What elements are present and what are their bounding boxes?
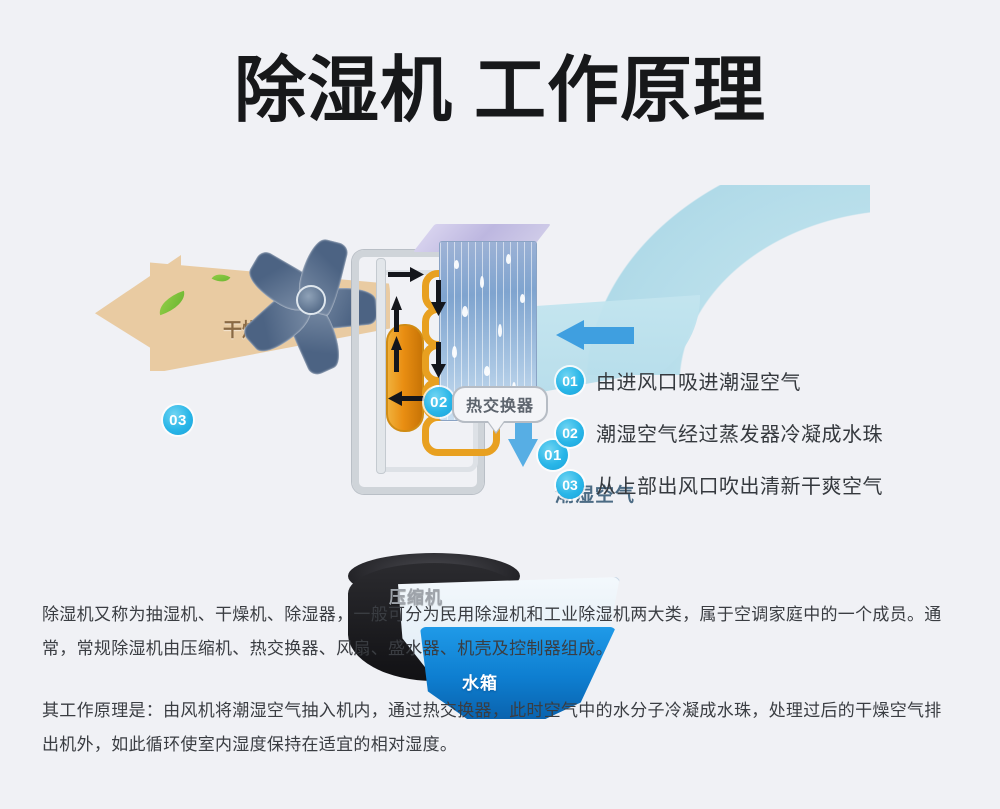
step-text: 潮湿空气经过蒸发器冷凝成水珠 bbox=[596, 418, 883, 447]
step-text: 从上部出风口吹出清新干爽空气 bbox=[596, 470, 883, 499]
heat-exchanger-callout: 热交换器 bbox=[452, 386, 548, 423]
air-intake-arrow bbox=[556, 320, 634, 350]
arrow-head bbox=[508, 439, 538, 467]
legend-step: 01 由进风口吸进潮湿空气 bbox=[556, 366, 976, 395]
paragraph-definition: 除湿机又称为抽湿机、干燥机、除湿器，一般可分为民用除湿机和工业除湿机两大类，属于… bbox=[42, 598, 958, 666]
legend-step: 03 从上部出风口吹出清新干爽空气 bbox=[556, 470, 976, 499]
water-droplet bbox=[498, 324, 502, 337]
water-droplet bbox=[506, 254, 511, 264]
step-text: 由进风口吸进潮湿空气 bbox=[596, 366, 801, 395]
body-copy: 除湿机又称为抽湿机、干燥机、除湿器，一般可分为民用除湿机和工业除湿机两大类，属于… bbox=[42, 598, 958, 762]
badge-03-dry-air: 03 bbox=[163, 405, 193, 435]
step-badge: 03 bbox=[556, 471, 584, 499]
arrow-shaft bbox=[582, 327, 634, 344]
legend-steps: 01 由进风口吸进潮湿空气 02 潮湿空气经过蒸发器冷凝成水珠 03 从上部出风… bbox=[556, 366, 976, 522]
badge-02-heat-exchanger: 02 bbox=[424, 387, 454, 417]
arrow-head bbox=[556, 320, 584, 350]
page-title: 除湿机 工作原理 bbox=[0, 48, 1000, 134]
water-droplet bbox=[520, 294, 525, 303]
step-badge: 01 bbox=[556, 367, 584, 395]
paragraph-principle: 其工作原理是：由风机将潮湿空气抽入机内，通过热交换器，此时空气中的水分子冷凝成水… bbox=[42, 694, 958, 762]
legend-step: 02 潮湿空气经过蒸发器冷凝成水珠 bbox=[556, 418, 976, 447]
step-badge: 02 bbox=[556, 419, 584, 447]
page-root: 除湿机 工作原理 干燥空气 bbox=[0, 0, 1000, 809]
fan-hub bbox=[296, 285, 326, 315]
